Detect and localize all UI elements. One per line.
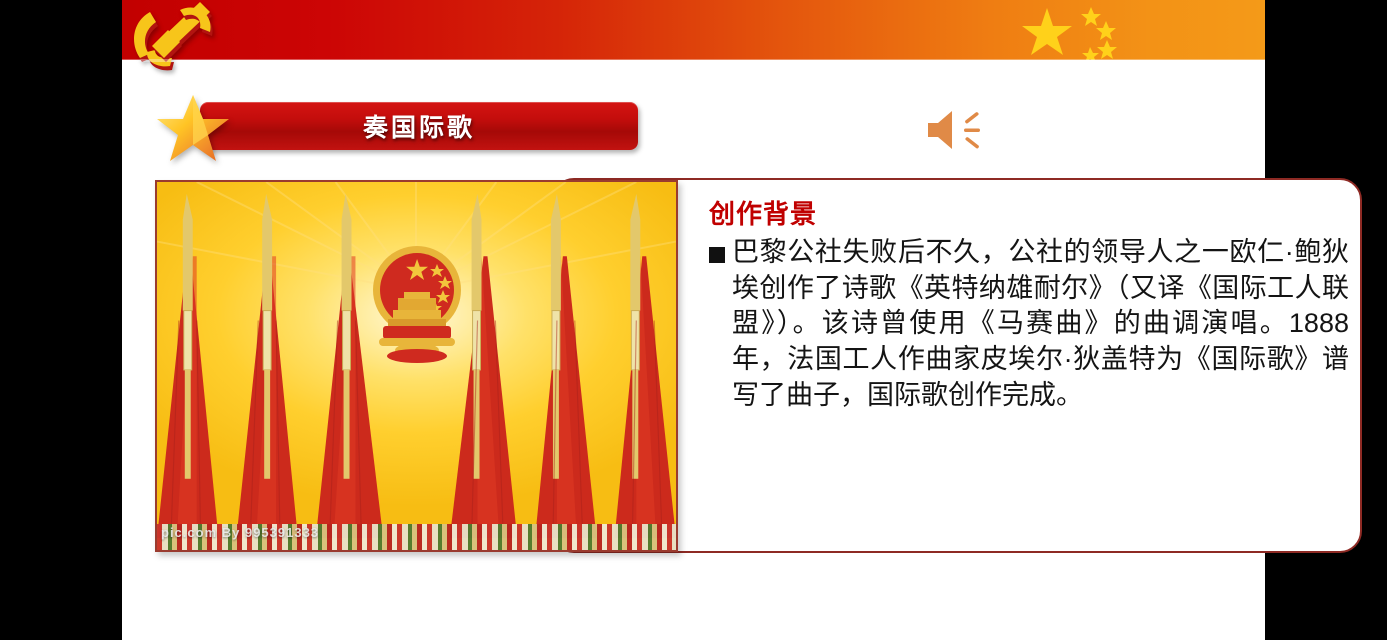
title-banner[interactable]: 奏国际歌 — [200, 102, 638, 150]
title-banner-label: 奏国际歌 — [363, 108, 475, 144]
slide-title-row: 奏国际歌 — [122, 92, 1265, 162]
bullet-paragraph: 巴黎公社失败后不久，公社的领导人之一欧仁·鲍狄埃创作了诗歌《英特纳雄耐尔》（又译… — [709, 235, 1349, 413]
gold-star-icon — [154, 92, 232, 164]
china-flag-stars-icon — [1017, 2, 1147, 60]
slide-header-band — [122, 0, 1265, 60]
red-flags-and-poles — [157, 182, 676, 550]
speaker-sound-icon[interactable] — [920, 104, 992, 156]
party-emblem-hammer-sickle-icon — [124, 0, 230, 84]
content-card-inner: 创作背景 巴黎公社失败后不久，公社的领导人之一欧仁·鲍狄埃创作了诗歌《英特纳雄耐… — [709, 194, 1349, 413]
national-emblem-red-flags-photo: pic.com By 995391333 — [155, 180, 678, 552]
photo-watermark: pic.com By 995391333 — [161, 525, 319, 540]
slide-viewer: 奏国际歌 — [0, 0, 1387, 640]
card-body-text: 巴黎公社失败后不久，公社的领导人之一欧仁·鲍狄埃创作了诗歌《英特纳雄耐尔》（又译… — [732, 235, 1349, 413]
presentation-slide: 奏国际歌 — [122, 0, 1265, 640]
letterbox-bar-left — [0, 0, 122, 640]
square-bullet-icon — [709, 247, 725, 263]
card-heading: 创作背景 — [709, 194, 1349, 231]
